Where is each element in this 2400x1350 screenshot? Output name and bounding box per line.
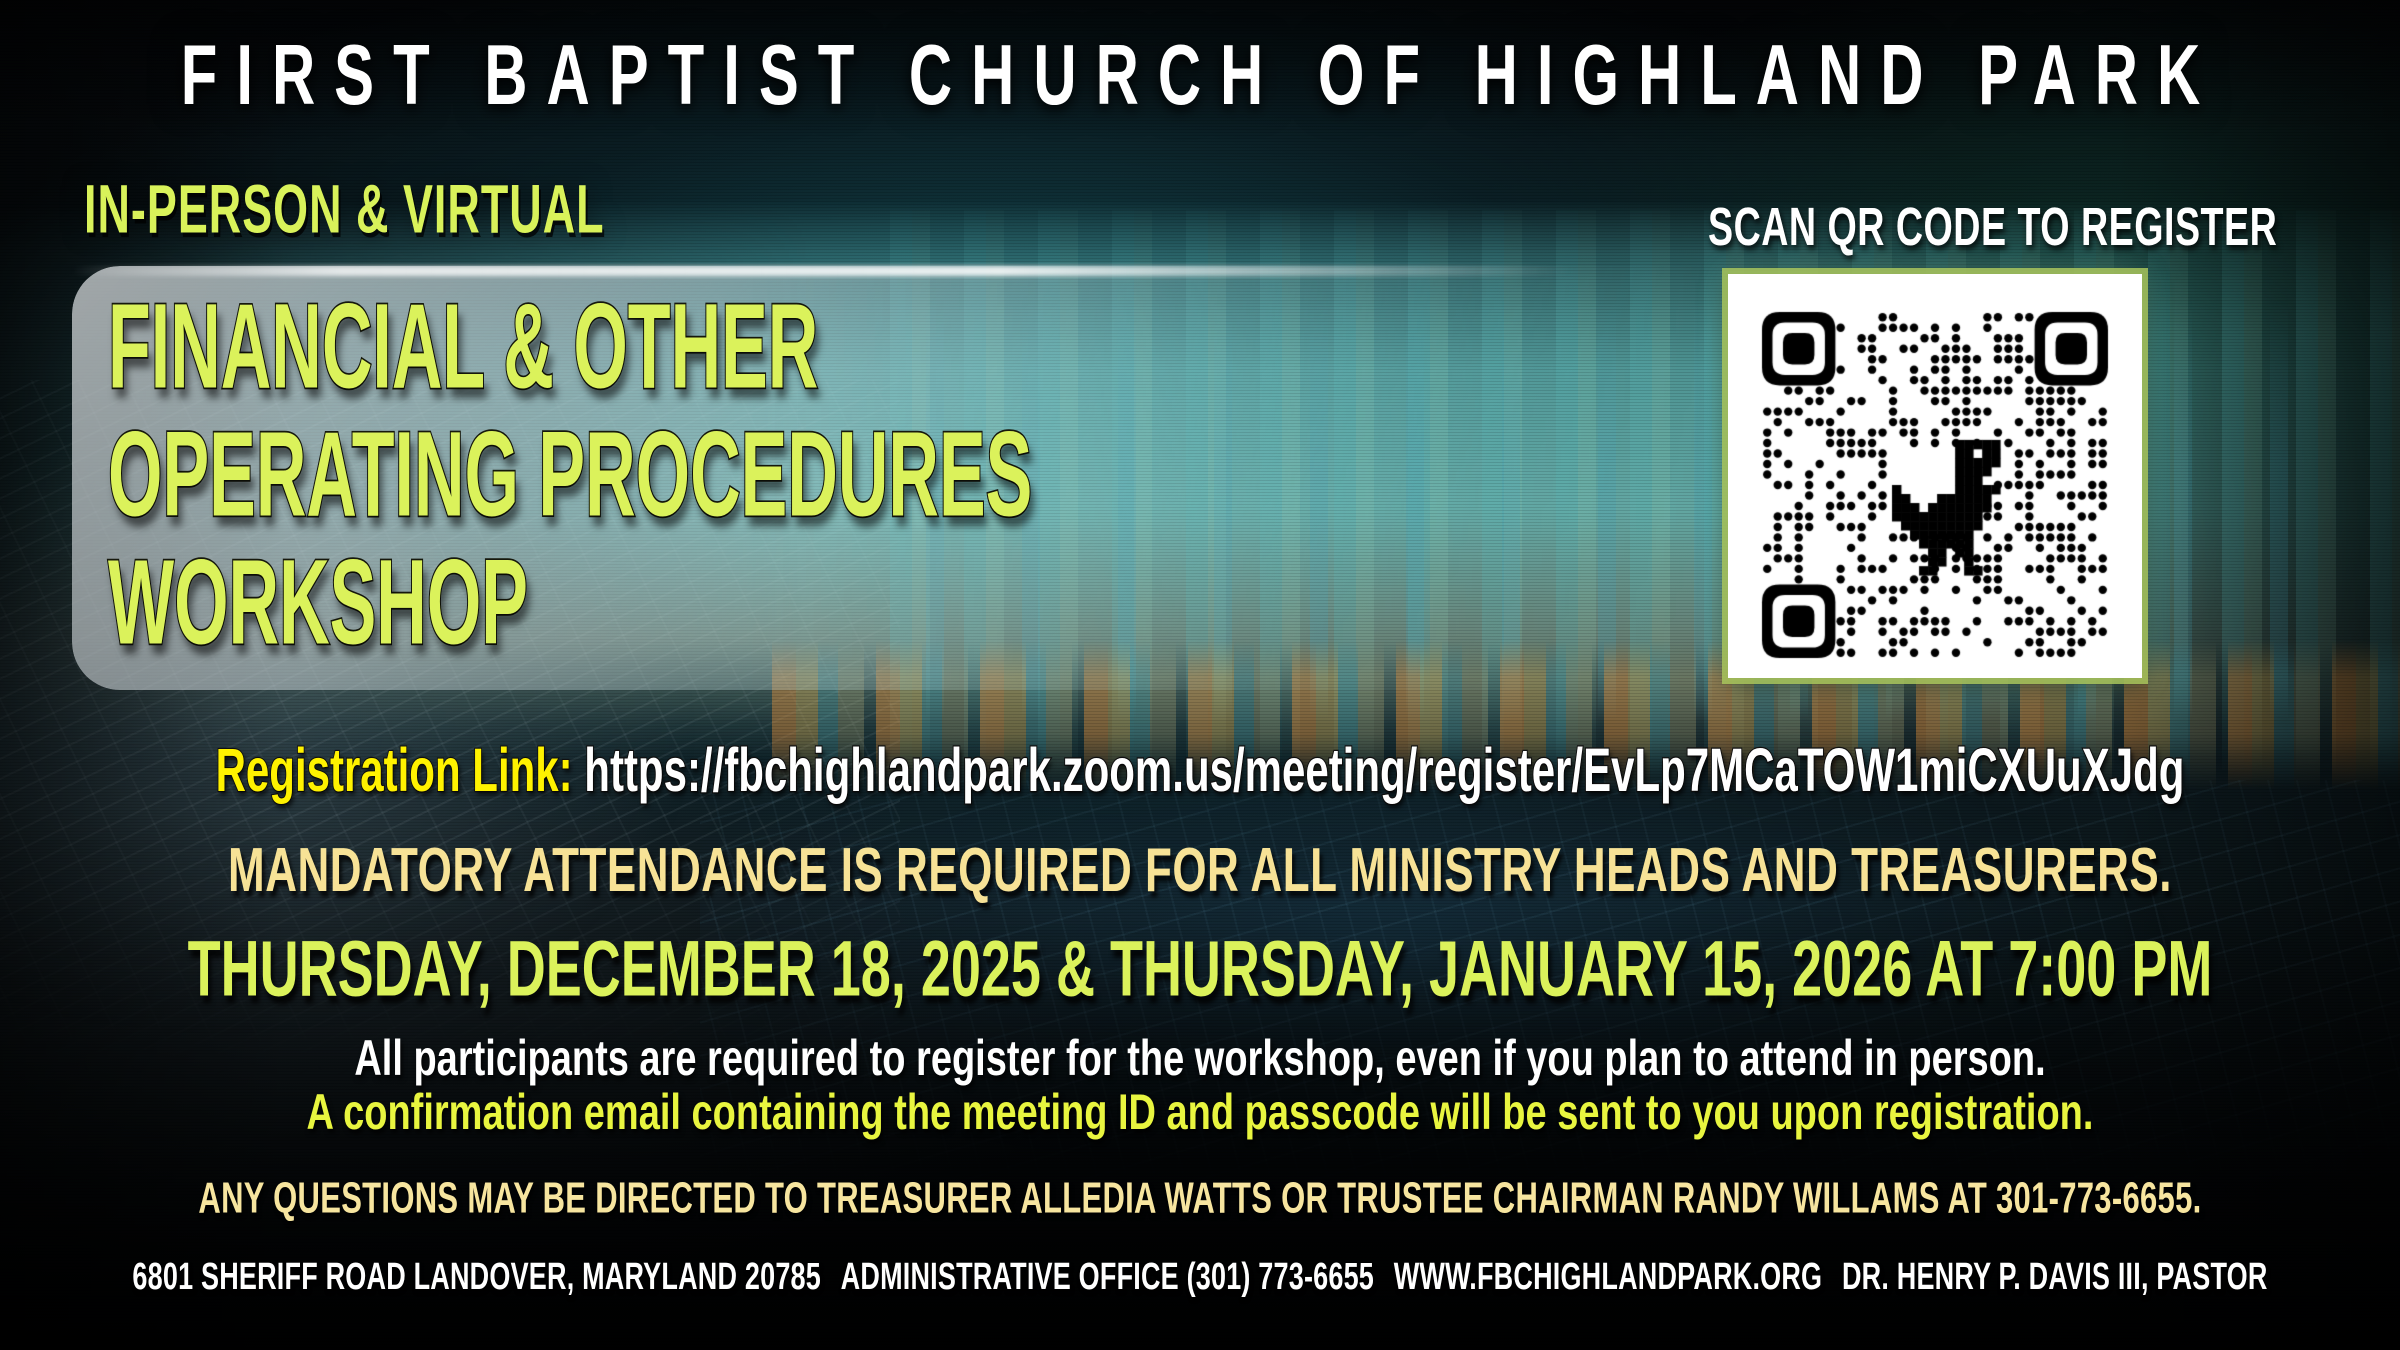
format-label: IN-PERSON & VIRTUAL [84, 172, 605, 250]
footer-address: 6801 SHERIFF ROAD LANDOVER, MARYLAND 207… [132, 1255, 821, 1298]
title-panel-sheen [72, 266, 1572, 276]
title-line-2: OPERATING PROCEDURES [108, 414, 1608, 541]
qr-caption: SCAN QR CODE TO REGISTER [1708, 198, 2277, 259]
qr-code[interactable] [1728, 274, 2142, 678]
event-flyer: FIRST BAPTIST CHURCH OF HIGHLAND PARK IN… [0, 0, 2400, 1350]
questions-contact-line: ANY QUESTIONS MAY BE DIRECTED TO TREASUR… [0, 1176, 2400, 1219]
qr-code-canvas[interactable] [1728, 274, 2142, 678]
mandatory-notice: MANDATORY ATTENDANCE IS REQUIRED FOR ALL… [0, 840, 2400, 902]
event-title: FINANCIAL & OTHER OPERATING PROCEDURES W… [108, 286, 1608, 628]
footer-website[interactable]: WWW.FBCHIGHLANDPARK.ORG [1394, 1255, 1823, 1298]
title-line-3: WORKSHOP [108, 542, 1608, 669]
title-line-1: FINANCIAL & OTHER [108, 286, 1608, 413]
confirmation-note: A confirmation email containing the meet… [0, 1088, 2400, 1138]
footer: 6801 SHERIFF ROAD LANDOVER, MARYLAND 207… [0, 1258, 2400, 1296]
footer-office: ADMINISTRATIVE OFFICE (301) 773-6655 [841, 1255, 1374, 1298]
church-name: FIRST BAPTIST CHURCH OF HIGHLAND PARK [60, 34, 2340, 119]
registration-note: All participants are required to registe… [0, 1034, 2400, 1084]
registration-link-line[interactable]: Registration Link: https://fbchighlandpa… [0, 740, 2400, 801]
registration-url[interactable]: https://fbchighlandpark.zoom.us/meeting/… [584, 736, 2184, 804]
registration-label: Registration Link: [216, 736, 573, 804]
event-dates: THURSDAY, DECEMBER 18, 2025 & THURSDAY, … [0, 930, 2400, 1009]
footer-pastor: DR. HENRY P. DAVIS III, PASTOR [1842, 1255, 2268, 1298]
